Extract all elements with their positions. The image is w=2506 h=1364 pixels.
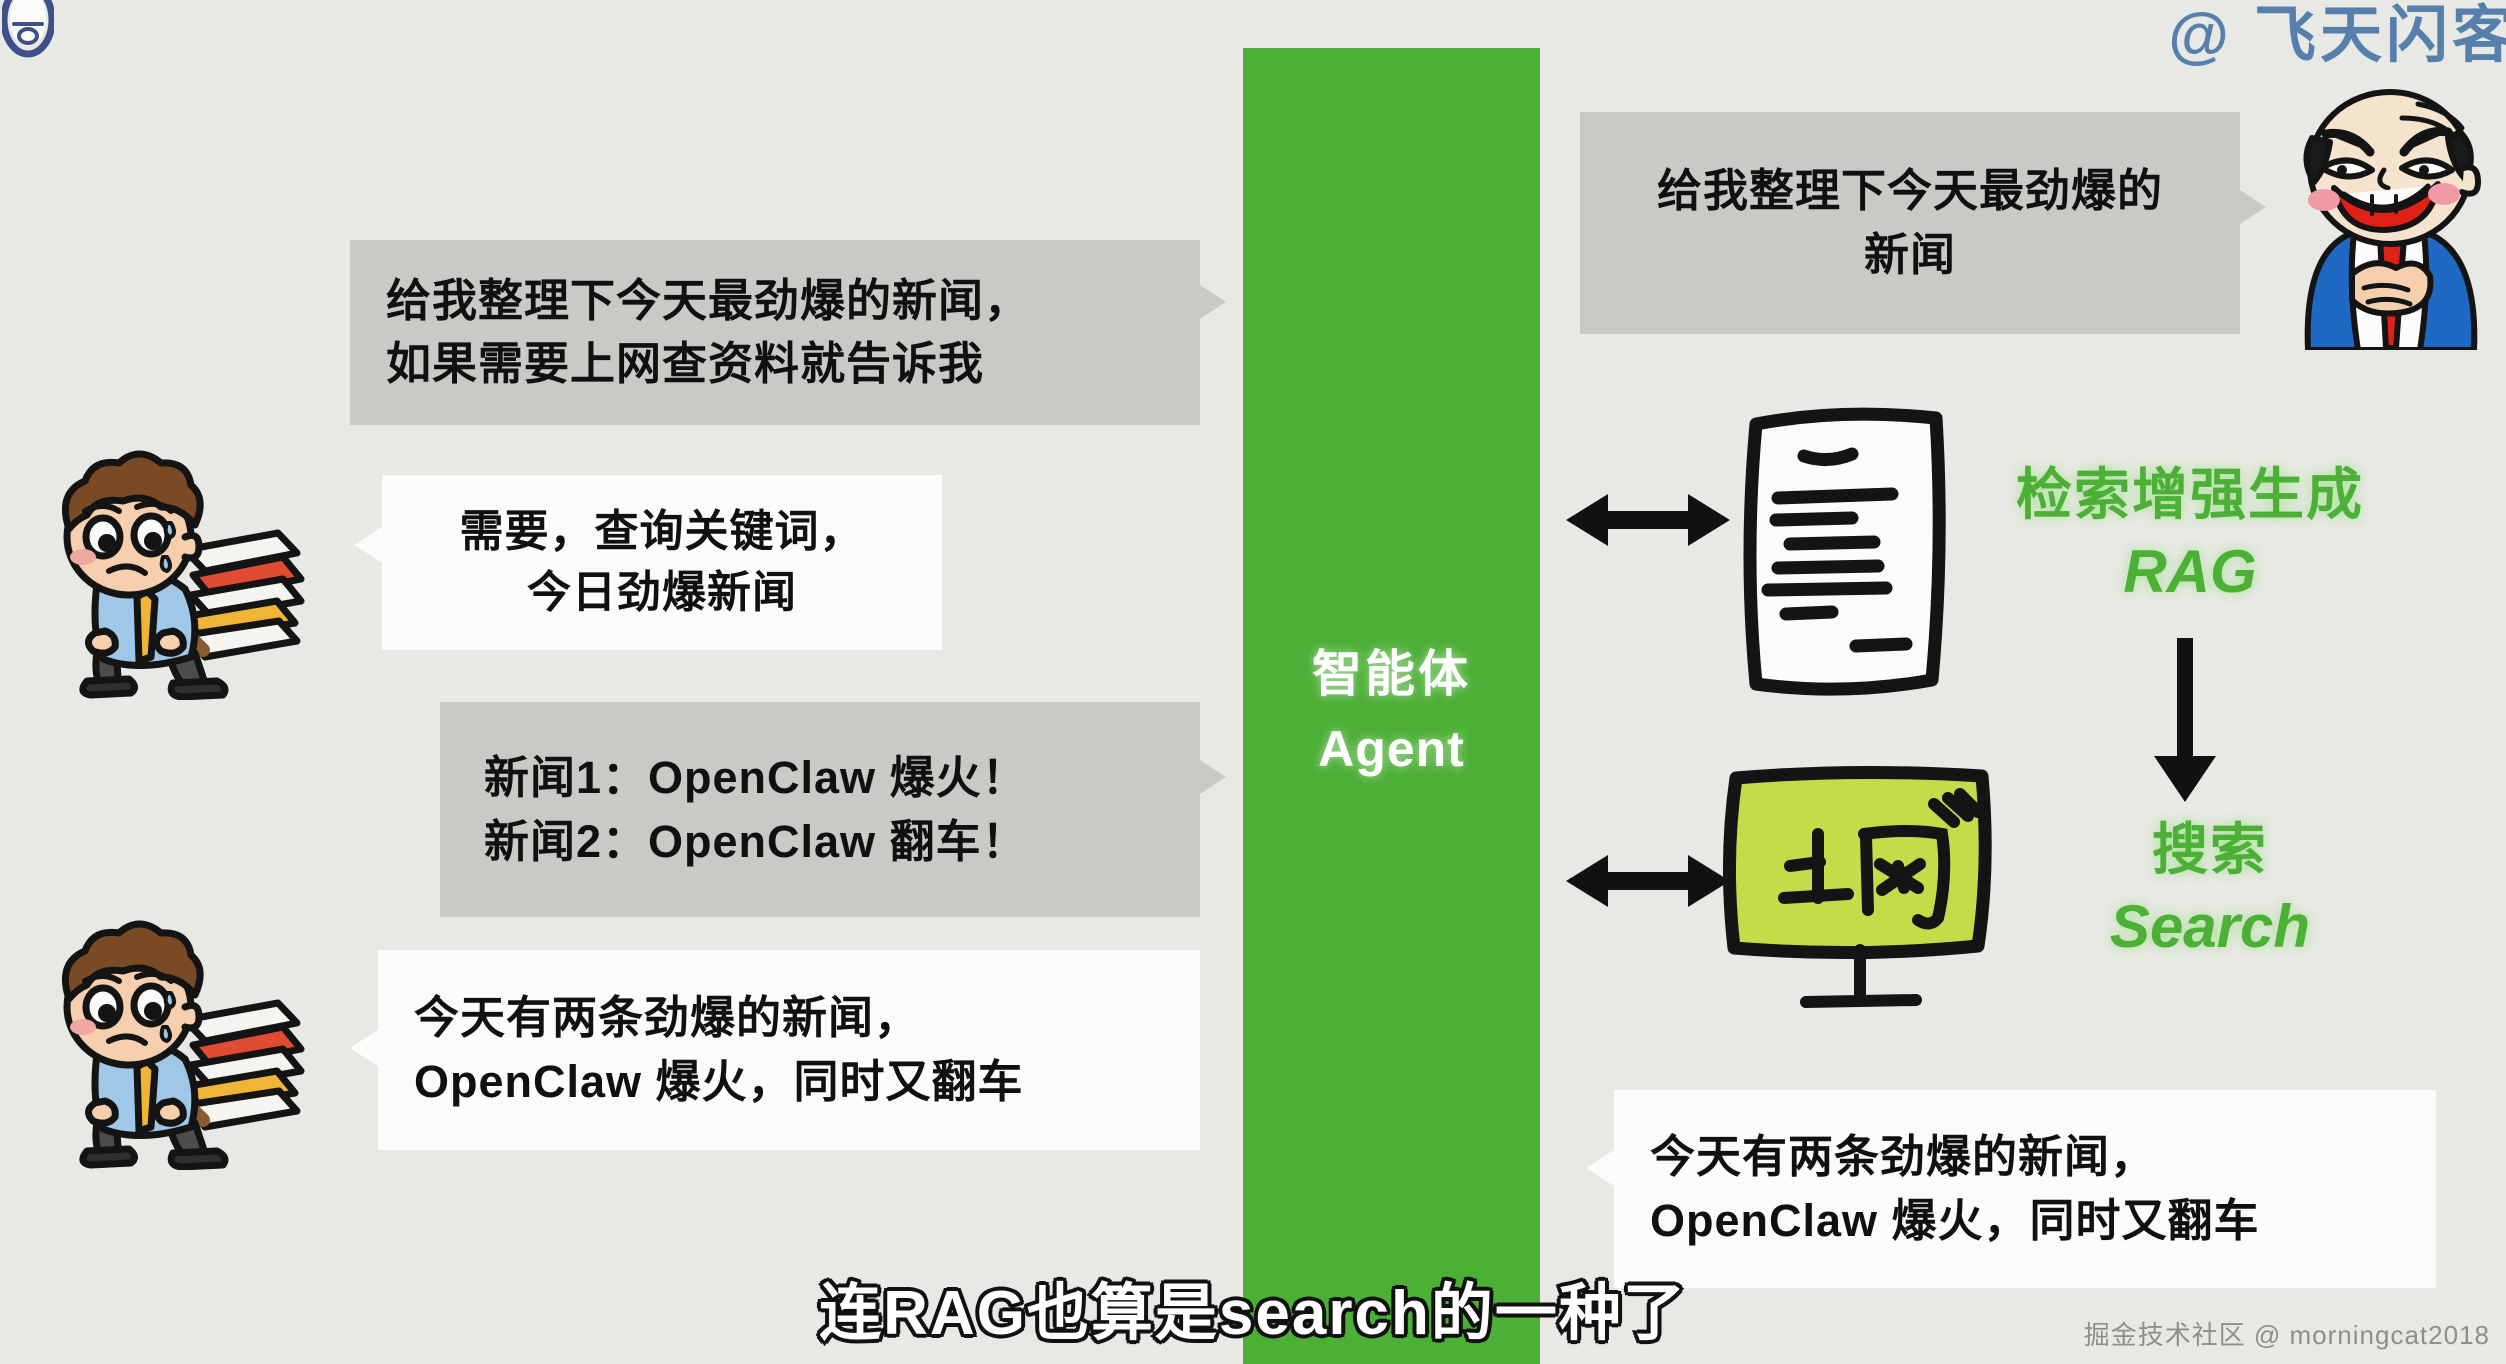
- bubble-line: OpenClaw 爆火，同时又翻车: [414, 1050, 1164, 1114]
- agent-label-cn: 智能体: [1312, 634, 1471, 706]
- monitor-icon: [1702, 762, 2002, 1054]
- rag-label-en: RAG: [1960, 537, 2420, 606]
- bubble-user-request: 给我整理下今天最劲爆的新闻， 如果需要上网查资料就告诉我: [350, 240, 1200, 425]
- bubble-line: 给我整理下今天最劲爆的: [1610, 159, 2210, 223]
- rag-label-cn: 检索增强生成: [1960, 450, 2420, 531]
- bubble-boss-request: 给我整理下今天最劲爆的 新闻: [1580, 112, 2240, 334]
- bubble-line: 新闻1：OpenClaw 爆火！: [484, 746, 1156, 810]
- bottom-right-watermark: 掘金技术社区 @ morningcat2018: [2084, 1315, 2490, 1352]
- arrow-agent-document: [1562, 484, 1734, 556]
- bubble-tail: [2240, 190, 2266, 224]
- search-label-en: Search: [2000, 892, 2420, 961]
- tired-office-worker-bottom: [25, 915, 325, 1170]
- bubble-search-results: 新闻1：OpenClaw 爆火！ 新闻2：OpenClaw 翻车！: [440, 702, 1200, 917]
- tired-office-worker-top: [25, 445, 325, 700]
- bubble-line: 今天有两条劲爆的新闻，: [1650, 1125, 2400, 1189]
- search-label-cn: 搜索: [2000, 805, 2420, 886]
- agent-column: 智能体 Agent: [1243, 48, 1540, 1364]
- bubble-line: 今日劲爆新闻: [416, 563, 908, 624]
- bubble-tail: [354, 527, 382, 563]
- scheming-boss-character: [2272, 62, 2506, 350]
- bubble-agent-summary: 今天有两条劲爆的新闻， OpenClaw 爆火，同时又翻车: [378, 950, 1200, 1150]
- bubble-line: OpenClaw 爆火，同时又翻车: [1650, 1189, 2400, 1253]
- bubble-line: 如果需要上网查资料就告诉我: [386, 333, 1164, 395]
- bubble-line: 新闻2：OpenClaw 翻车！: [484, 810, 1156, 874]
- arrow-agent-monitor: [1562, 845, 1734, 917]
- bubble-line: 给我整理下今天最劲爆的新闻，: [386, 270, 1164, 332]
- arrow-rag-to-search: [2140, 638, 2230, 808]
- bubble-tail: [350, 1030, 378, 1066]
- bubble-line: 需要，查询关键词，: [416, 502, 908, 563]
- bubble-boss-answer: 今天有两条劲爆的新闻， OpenClaw 爆火，同时又翻车: [1614, 1090, 2436, 1288]
- agent-label-en: Agent: [1318, 720, 1465, 778]
- corner-avatar-icon: [2, 0, 54, 62]
- document-icon: [1742, 402, 1968, 698]
- bubble-line: 今天有两条劲爆的新闻，: [414, 986, 1164, 1050]
- bubble-tail: [1200, 760, 1226, 794]
- video-frame: @ 飞天闪客 智能体 Agent 给我整理下今天最劲爆的新闻， 如果需要上网查资…: [0, 0, 2506, 1364]
- bubble-line: 新闻: [1610, 223, 2210, 287]
- bubble-agent-need-search: 需要，查询关键词， 今日劲爆新闻: [382, 475, 942, 650]
- label-search: 搜索 Search: [2000, 805, 2420, 961]
- bubble-tail: [1200, 285, 1226, 319]
- bubble-tail: [1586, 1150, 1614, 1186]
- label-rag: 检索增强生成 RAG: [1960, 450, 2420, 606]
